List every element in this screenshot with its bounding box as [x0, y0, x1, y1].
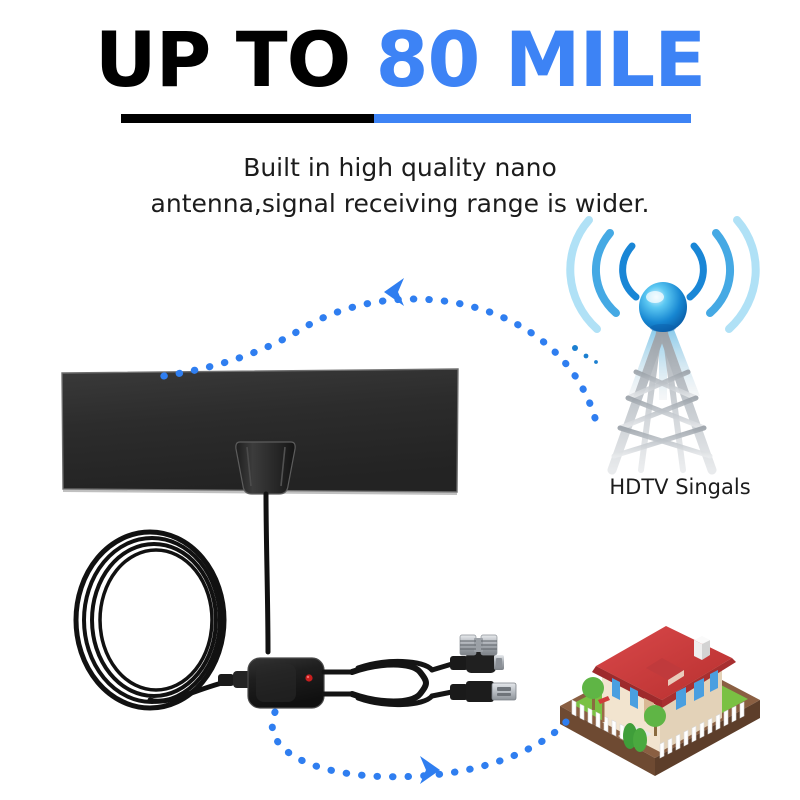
product-illustration — [0, 0, 800, 800]
signal-amplifier — [248, 658, 324, 708]
usb-output-connector — [450, 681, 516, 702]
signal-arrow-amplifier-to-house — [272, 712, 566, 784]
antenna-cable-tab — [236, 442, 295, 494]
arrowhead-right-icon — [420, 756, 440, 784]
flat-antenna-panel — [62, 369, 458, 495]
house-illustration — [560, 626, 760, 776]
cable-coil — [76, 532, 224, 708]
hdtv-signals-label: HDTV Singals — [560, 474, 800, 500]
coax-coupler-adapter — [460, 635, 497, 655]
output-cable-loop — [324, 661, 452, 704]
tower-sphere — [639, 282, 687, 332]
product-infographic: UP TO 80 MILE Built in high quality nano… — [0, 0, 800, 800]
arrowhead-left-icon — [384, 278, 404, 306]
amplifier-led-indicator — [305, 674, 312, 681]
wave-sparkle-dots — [572, 345, 598, 364]
broadcast-tower — [570, 220, 755, 470]
